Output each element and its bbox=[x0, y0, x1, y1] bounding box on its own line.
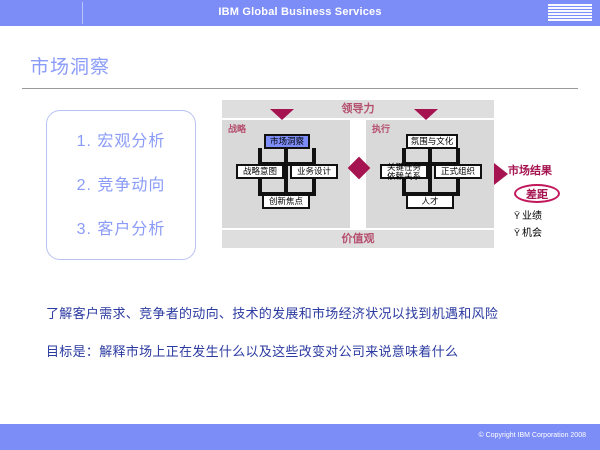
body-paragraph-2: 目标是：解释市场上正在发生什么以及这些改变对公司来说意味着什么 bbox=[46, 341, 458, 360]
gap-badge: 差距 bbox=[514, 184, 560, 203]
arrow-right-results-icon bbox=[494, 163, 508, 185]
footer-band: © Copyright IBM Corporation 2008 bbox=[0, 424, 600, 450]
node-key-tasks[interactable]: 关键任务 依赖关系 bbox=[380, 164, 428, 179]
list-item: 3. 客户分析 bbox=[47, 215, 195, 239]
connector bbox=[284, 162, 288, 196]
node-market-insight[interactable]: 市场洞察 bbox=[264, 134, 310, 149]
list-item: 2. 竞争动向 bbox=[47, 171, 195, 195]
bullet-glyph-icon: Ÿ bbox=[514, 228, 520, 238]
footer-copyright: © Copyright IBM Corporation 2008 bbox=[479, 432, 587, 439]
list-item: 1. 宏观分析 bbox=[47, 127, 195, 151]
band-values: 价值观 bbox=[222, 230, 494, 248]
node-formal-organization[interactable]: 正式组织 bbox=[434, 164, 482, 179]
node-business-design[interactable]: 业务设计 bbox=[290, 164, 338, 179]
arrow-down-strategy-icon bbox=[270, 109, 294, 120]
header-band: IBM Global Business Services bbox=[0, 0, 600, 26]
panel-label-strategy: 战略 bbox=[228, 122, 246, 135]
connector bbox=[428, 162, 432, 196]
node-strategic-intent[interactable]: 战略意图 bbox=[236, 164, 284, 179]
blm-diagram: 领导力 价值观 战略 执行 市场洞察 战略意图 业务设计 创新焦点 氛围与文化 … bbox=[222, 100, 494, 248]
result-bullet-label: 机会 bbox=[522, 228, 542, 239]
node-talent[interactable]: 人才 bbox=[406, 194, 454, 209]
market-results-group: 市场结果 差距 Ÿ业绩 Ÿ机会 bbox=[508, 162, 594, 239]
arrow-down-execution-icon bbox=[414, 109, 438, 120]
result-bullet-label: 业绩 bbox=[522, 211, 542, 222]
panel-label-execution: 执行 bbox=[372, 122, 390, 135]
market-results-title: 市场结果 bbox=[508, 162, 594, 178]
node-key-tasks-line2: 依赖关系 bbox=[387, 172, 421, 181]
analysis-list-box: 1. 宏观分析 2. 竞争动向 3. 客户分析 bbox=[46, 110, 196, 260]
header-title: IBM Global Business Services bbox=[0, 6, 600, 18]
result-bullet-opportunity: Ÿ机会 bbox=[514, 224, 594, 239]
result-bullet-performance: Ÿ业绩 bbox=[514, 207, 594, 222]
band-leadership: 领导力 bbox=[222, 100, 494, 118]
body-paragraph-1: 了解客户需求、竞争者的动向、技术的发展和市场经济状况以找到机遇和风险 bbox=[46, 303, 498, 322]
ibm-logo-icon bbox=[548, 4, 592, 22]
page-title: 市场洞察 bbox=[30, 52, 110, 79]
title-divider bbox=[22, 88, 578, 89]
bullet-glyph-icon: Ÿ bbox=[514, 211, 520, 221]
node-climate-culture[interactable]: 氛围与文化 bbox=[406, 134, 458, 149]
node-innovation-focus[interactable]: 创新焦点 bbox=[262, 194, 310, 209]
